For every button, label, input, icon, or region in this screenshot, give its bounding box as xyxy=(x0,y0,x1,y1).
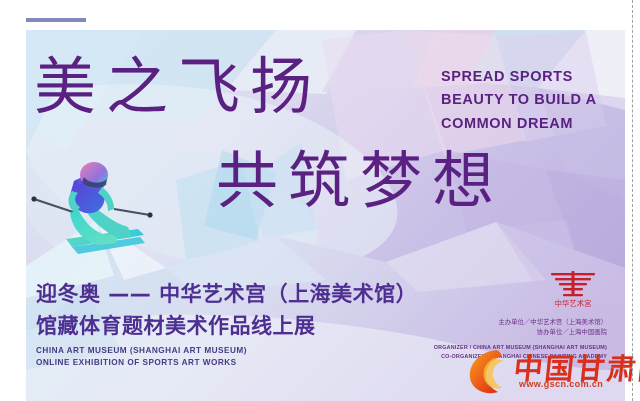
slogan-line-3: COMMON DREAM xyxy=(441,113,621,136)
exhibition-title-en-line2: ONLINE EXHIBITION OF SPORTS ART WORKS xyxy=(36,357,247,369)
credit-cn-line2: 协办单位／上海中国画院 xyxy=(498,328,607,338)
exhibition-title-en: CHINA ART MUSEUM (SHANGHAI ART MUSEUM) O… xyxy=(36,345,247,369)
english-slogan: SPREAD SPORTS BEAUTY TO BUILD A COMMON D… xyxy=(441,66,621,136)
right-dashed-border xyxy=(632,0,633,401)
organizer-credits-cn: 主办单位／中华艺术宫（上海美术馆） 协办单位／上海中国画院 xyxy=(498,318,607,339)
slogan-line-2: BEAUTY TO BUILD A xyxy=(441,89,621,112)
headline-chinese-line1: 美之飞扬 xyxy=(34,56,322,118)
exhibition-title-cn-line2: 馆藏体育题材美术作品线上展 xyxy=(36,310,316,340)
credit-cn-line1: 主办单位／中华艺术宫（上海美术馆） xyxy=(498,318,607,328)
exhibition-title-cn-line1: 迎冬奥 —— 中华艺术宫（上海美术馆） xyxy=(36,278,417,308)
watermark-site-url: www.gscn.com.cn xyxy=(519,379,603,389)
headline-chinese-line2: 共筑梦想 xyxy=(216,150,504,212)
logo-caption: 中华艺术宫 xyxy=(555,299,592,308)
gscn-watermark-icon: 中国甘肃网 www.gscn.com.cn xyxy=(462,344,637,400)
page-root: 美之飞扬 共筑梦想 SPREAD SPORTS BEAUTY TO BUILD … xyxy=(0,0,640,401)
china-art-museum-logo-icon: 中华艺术宫 xyxy=(543,268,603,312)
slogan-line-1: SPREAD SPORTS xyxy=(441,66,621,89)
top-accent-rule xyxy=(26,18,86,22)
exhibition-title-en-line1: CHINA ART MUSEUM (SHANGHAI ART MUSEUM) xyxy=(36,345,247,357)
